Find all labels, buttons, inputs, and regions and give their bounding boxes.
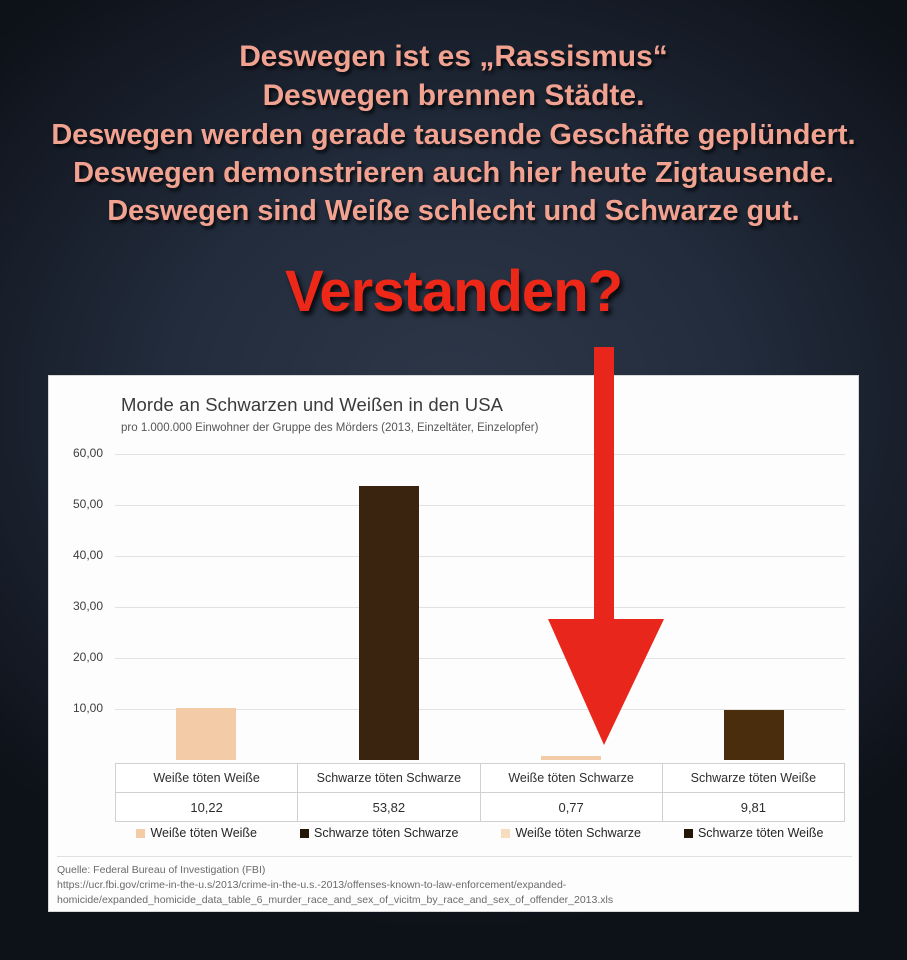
chart-bar [541,756,601,760]
legend-item-label: Schwarze töten Schwarze [314,826,459,840]
gridline [115,658,845,659]
table-cell-category-0: Weiße töten Weiße [116,764,298,793]
legend-item: Weiße töten Schwarze [501,826,641,840]
headline-line-3-lead: Deswegen [51,119,193,151]
gridline [115,556,845,557]
headline-line-4: Deswegen demonstrieren auch hier heute Z… [0,155,907,192]
legend-swatch-icon [300,829,309,838]
chart-bar [724,710,784,760]
table-cell-value-3: 9,81 [662,793,844,822]
legend-swatch-icon [501,829,510,838]
headline-line-3-rest: werden gerade tausende Geschäfte geplünd… [193,119,855,151]
headline-line-5: Deswegen sind Weiße schlecht und Schwarz… [0,193,907,230]
y-axis-tick-label: 60,00 [48,446,103,460]
chart-legend: Weiße töten WeißeSchwarze töten Schwarze… [115,826,845,840]
chart-card: Morde an Schwarzen und Weißen in den USA… [48,375,859,912]
table-cell-category-3: Schwarze töten Weiße [662,764,844,793]
y-axis-tick-label: 10,00 [48,701,103,715]
table-cell-value-0: 10,22 [116,793,298,822]
y-axis-tick-label: 40,00 [48,548,103,562]
table-row-values: 10,22 53,82 0,77 9,81 [116,793,845,822]
table-cell-value-1: 53,82 [298,793,480,822]
headline-line-2: Deswegen brennen Städte. [0,77,907,115]
headline-line-2-rest: brennen Städte. [409,79,644,112]
chart-subtitle: pro 1.000.000 Einwohner der Gruppe des M… [121,422,538,434]
y-axis-tick-label: 20,00 [48,650,103,664]
headline-line-3: Deswegen werden gerade tausende Geschäft… [0,117,907,154]
gridline [115,505,845,506]
headline-line-1: Deswegen ist es „Rassismus“ [0,38,907,76]
chart-title: Morde an Schwarzen und Weißen in den USA [121,394,503,416]
chart-bar [359,486,419,760]
chart-plot-area: 60,0050,0040,0030,0020,0010,00 [115,454,845,760]
legend-item-label: Weiße töten Schwarze [515,826,641,840]
headline-line-2-lead: Deswegen [263,79,410,112]
legend-swatch-icon [136,829,145,838]
chart-bar [176,708,236,760]
legend-item-label: Weiße töten Weiße [150,826,257,840]
y-axis-tick-label: 30,00 [48,599,103,613]
category-value-table: Weiße töten Weiße Schwarze töten Schwarz… [115,763,845,822]
headline-line-5-lead: Deswegen [107,195,249,227]
headline-line-5-rest: sind Weiße schlecht und Schwarze gut. [249,195,800,227]
headline-line-1-rest: ist es „Rassismus“ [386,40,668,73]
headline-line-1-lead: Deswegen [239,40,386,73]
legend-item: Schwarze töten Weiße [684,826,824,840]
legend-item: Weiße töten Weiße [136,826,257,840]
punchline-text: Verstanden? [0,258,907,325]
meme-headline: Deswegen ist es „Rassismus“ Deswegen bre… [0,38,907,231]
gridline [115,607,845,608]
source-line-2: https://ucr.fbi.gov/crime-in-the-u.s/201… [57,878,852,893]
legend-swatch-icon [684,829,693,838]
table-cell-value-2: 0,77 [480,793,662,822]
legend-item: Schwarze töten Schwarze [300,826,459,840]
table-row-categories: Weiße töten Weiße Schwarze töten Schwarz… [116,764,845,793]
table-cell-category-1: Schwarze töten Schwarze [298,764,480,793]
legend-item-label: Schwarze töten Weiße [698,826,824,840]
gridline [115,454,845,455]
table-cell-category-2: Weiße töten Schwarze [480,764,662,793]
source-citation: Quelle: Federal Bureau of Investigation … [57,856,852,909]
source-line-3: homicide/expanded_homicide_data_table_6_… [57,893,852,908]
source-line-1: Quelle: Federal Bureau of Investigation … [57,863,852,878]
headline-line-4-lead: Deswegen [73,157,215,189]
y-axis-tick-label: 50,00 [48,497,103,511]
headline-line-4-rest: demonstrieren auch hier heute Zigtausend… [215,157,834,189]
